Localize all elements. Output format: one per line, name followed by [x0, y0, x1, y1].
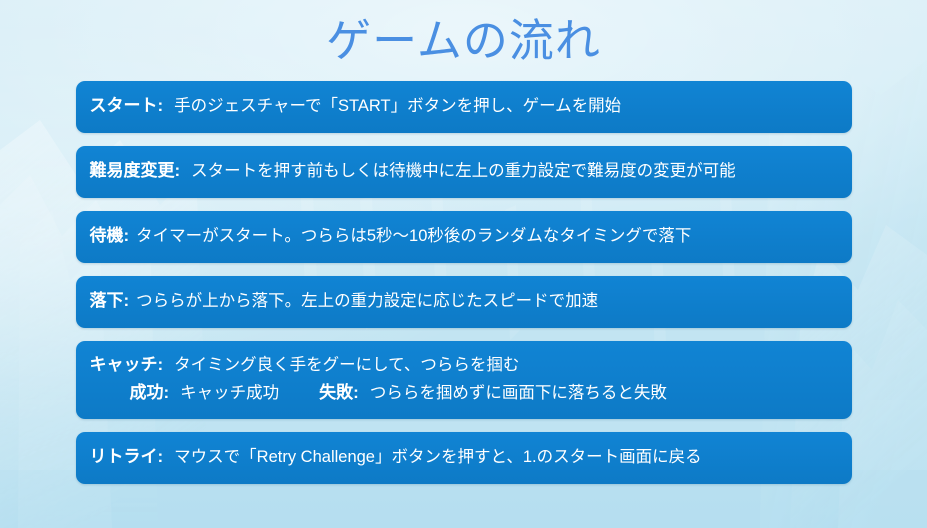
step-line: 落下: つららが上から落下。左上の重力設定に応じたスピードで加速 — [90, 289, 838, 314]
step-line: キャッチ: タイミング良く手をグーにして、つららを掴む — [90, 353, 838, 378]
sub-result-failure: 失敗: つららを掴めずに画面下に落ちると失敗 — [319, 381, 667, 406]
step-label: キャッチ: — [90, 353, 164, 378]
step-label: 難易度変更: — [90, 159, 181, 184]
sub-text: つららを掴めずに画面下に落ちると失敗 — [370, 382, 667, 406]
step-row-catch: キャッチ: タイミング良く手をグーにして、つららを掴む 成功: キャッチ成功 失… — [76, 341, 852, 419]
step-label: スタート: — [90, 94, 164, 119]
game-flow-step-list: スタート: 手のジェスチャーで「START」ボタンを押し、ゲームを開始 難易度変… — [76, 81, 852, 484]
slide-content: ゲームの流れ スタート: 手のジェスチャーで「START」ボタンを押し、ゲームを… — [0, 0, 927, 528]
page-title: ゲームの流れ — [326, 14, 601, 69]
step-text: マウスで「Retry Challenge」ボタンを押すと、1.のスタート画面に戻… — [174, 446, 701, 470]
step-row-fall: 落下: つららが上から落下。左上の重力設定に応じたスピードで加速 — [76, 276, 852, 328]
step-text: スタートを押す前もしくは待機中に左上の重力設定で難易度の変更が可能 — [191, 160, 736, 184]
sub-label: 失敗: — [319, 381, 359, 406]
sub-label: 成功: — [130, 381, 170, 406]
step-text: 手のジェスチャーで「START」ボタンを押し、ゲームを開始 — [174, 95, 621, 119]
sub-text: キャッチ成功 — [180, 382, 279, 406]
step-line: 待機: タイマーがスタート。つららは5秒〜10秒後のランダムなタイミングで落下 — [90, 224, 838, 249]
step-line: スタート: 手のジェスチャーで「START」ボタンを押し、ゲームを開始 — [90, 94, 838, 119]
step-text: タイミング良く手をグーにして、つららを掴む — [174, 354, 519, 378]
sub-result-success: 成功: キャッチ成功 — [130, 381, 280, 406]
step-line: 難易度変更: スタートを押す前もしくは待機中に左上の重力設定で難易度の変更が可能 — [90, 159, 838, 184]
step-label: 落下: — [90, 289, 130, 314]
step-label: 待機: — [90, 224, 130, 249]
step-label: リトライ: — [90, 445, 164, 470]
step-sub-line: 成功: キャッチ成功 失敗: つららを掴めずに画面下に落ちると失敗 — [90, 381, 838, 406]
step-line: リトライ: マウスで「Retry Challenge」ボタンを押すと、1.のスタ… — [90, 445, 838, 470]
step-text: タイマーがスタート。つららは5秒〜10秒後のランダムなタイミングで落下 — [136, 225, 691, 249]
step-row-retry: リトライ: マウスで「Retry Challenge」ボタンを押すと、1.のスタ… — [76, 432, 852, 484]
step-row-start: スタート: 手のジェスチャーで「START」ボタンを押し、ゲームを開始 — [76, 81, 852, 133]
step-row-standby: 待機: タイマーがスタート。つららは5秒〜10秒後のランダムなタイミングで落下 — [76, 211, 852, 263]
step-text: つららが上から落下。左上の重力設定に応じたスピードで加速 — [136, 290, 598, 314]
step-row-difficulty-change: 難易度変更: スタートを押す前もしくは待機中に左上の重力設定で難易度の変更が可能 — [76, 146, 852, 198]
